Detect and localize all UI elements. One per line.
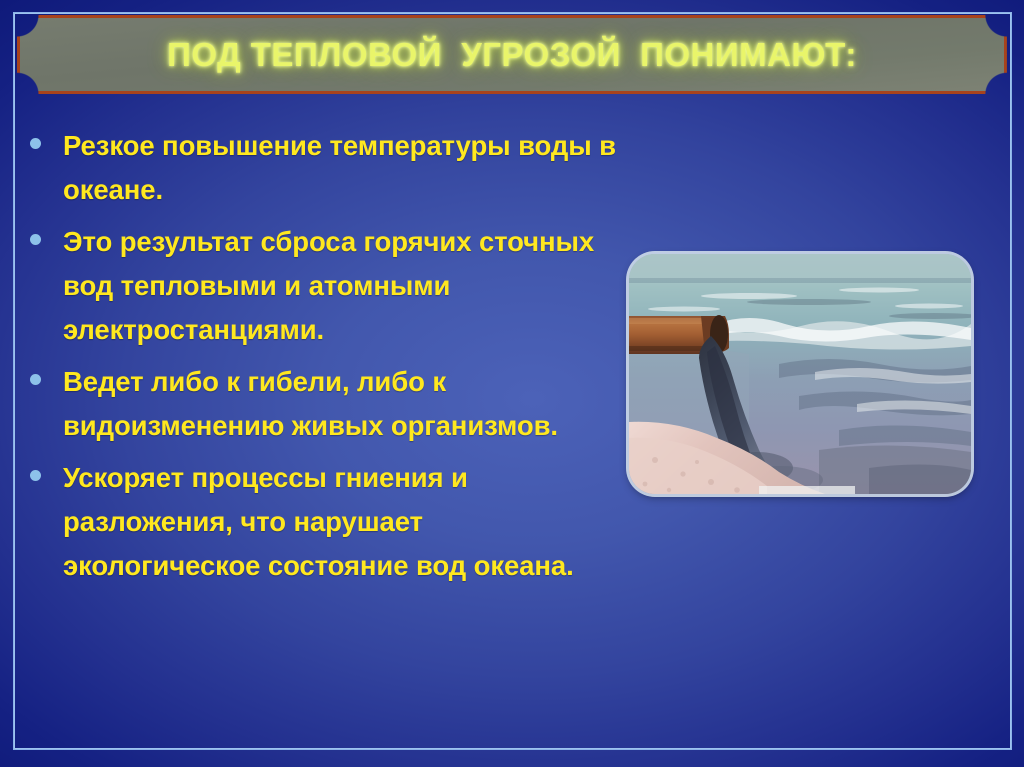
presentation-slide: ПОД ТЕПЛОВОЙ УГРОЗОЙ ПОНИМАЮТ: Резкое по…	[0, 0, 1024, 767]
bullet-dot-icon	[30, 138, 41, 149]
photo-artwork	[629, 254, 971, 494]
ocean-outfall-pipe-photo	[629, 254, 971, 494]
bullet-dot-icon	[30, 374, 41, 385]
list-item: Это результат сброса горячих сточных вод…	[30, 220, 670, 352]
list-item: Ускоряет процессы гниения и разложения, …	[30, 456, 670, 588]
bullet-list: Резкое повышение температуры воды в океа…	[30, 124, 670, 596]
list-item: Резкое повышение температуры воды в океа…	[30, 124, 670, 212]
bullet-text: Ведет либо к гибели, либо к видоизменени…	[63, 360, 558, 448]
bullet-text: Это результат сброса горячих сточных вод…	[63, 220, 594, 352]
slide-title-banner: ПОД ТЕПЛОВОЙ УГРОЗОЙ ПОНИМАЮТ:	[17, 15, 1007, 94]
bullet-text: Ускоряет процессы гниения и разложения, …	[63, 456, 574, 588]
page-title: ПОД ТЕПЛОВОЙ УГРОЗОЙ ПОНИМАЮТ:	[17, 15, 1007, 94]
bullet-text: Резкое повышение температуры воды в океа…	[63, 124, 616, 212]
bullet-dot-icon	[30, 234, 41, 245]
bullet-dot-icon	[30, 470, 41, 481]
list-item: Ведет либо к гибели, либо к видоизменени…	[30, 360, 670, 448]
